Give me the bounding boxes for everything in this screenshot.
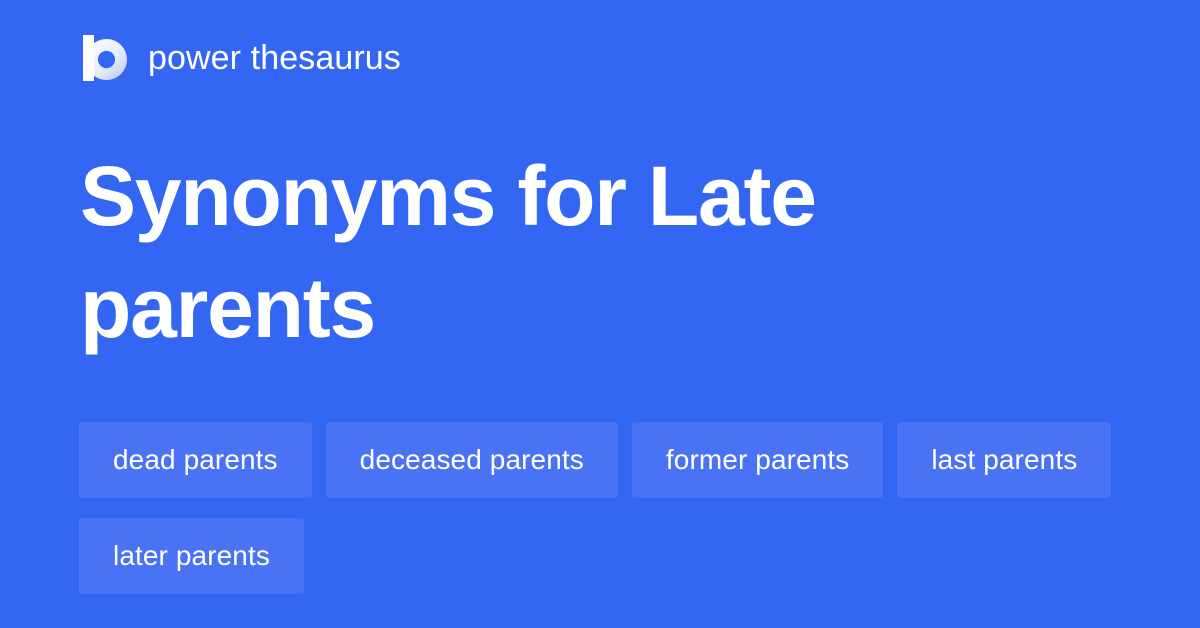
synonym-chip[interactable]: dead parents — [79, 422, 312, 498]
brand-name: power thesaurus — [148, 41, 401, 75]
synonym-chip[interactable]: last parents — [897, 422, 1111, 498]
synonym-chip-label: later parents — [113, 542, 270, 570]
synonym-chip-label: deceased parents — [360, 446, 584, 474]
synonym-chip[interactable]: former parents — [632, 422, 883, 498]
synonyms-share-card: power thesaurus Synonyms for Late parent… — [0, 0, 1200, 628]
synonym-chip-label: last parents — [931, 446, 1077, 474]
synonym-chip[interactable]: deceased parents — [326, 422, 618, 498]
synonym-chip-list: dead parents deceased parents former par… — [79, 422, 1129, 594]
brand-lockup[interactable]: power thesaurus — [80, 30, 401, 86]
power-thesaurus-b-mark-icon — [80, 33, 130, 83]
page-title: Synonyms for Late parents — [80, 140, 1120, 364]
synonym-chip-label: former parents — [666, 446, 849, 474]
synonym-chip[interactable]: later parents — [79, 518, 304, 594]
synonym-chip-label: dead parents — [113, 446, 278, 474]
